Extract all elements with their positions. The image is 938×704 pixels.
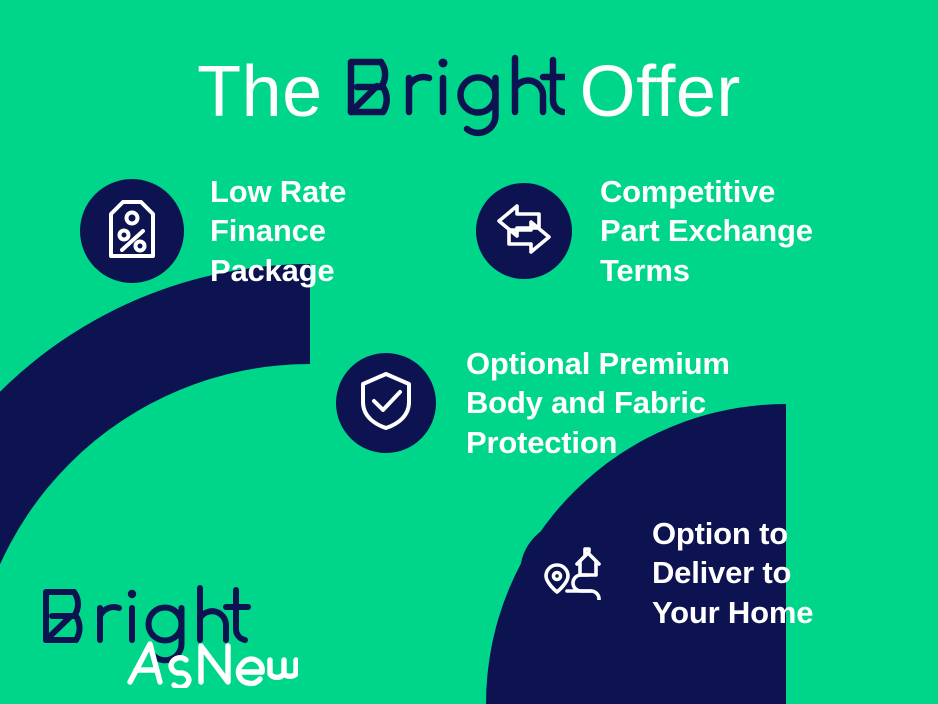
feature-item-body-fabric-protection: Optional Premium Body and Fabric Protect… bbox=[336, 344, 796, 462]
feature-label: Competitive Part Exchange Terms bbox=[600, 172, 868, 290]
shield-check-icon bbox=[357, 370, 415, 437]
bright-wordmark-icon bbox=[337, 46, 565, 142]
feature-icon-badge bbox=[476, 183, 572, 279]
feature-label-line: Option to bbox=[652, 514, 864, 553]
feature-label-line: Finance bbox=[210, 211, 410, 250]
feature-item-part-exchange: Competitive Part Exchange Terms bbox=[476, 172, 868, 290]
feature-label-line: Your Home bbox=[652, 593, 864, 632]
feature-label: Low Rate Finance Package bbox=[210, 172, 410, 290]
promo-banner: The bbox=[0, 0, 938, 704]
exchange-arrows-icon bbox=[495, 200, 553, 263]
home-delivery-pin-icon bbox=[541, 542, 603, 605]
feature-label-line: Terms bbox=[600, 251, 868, 290]
feature-item-home-delivery: Option to Deliver to Your Home bbox=[520, 514, 864, 632]
headline-after: Offer bbox=[580, 52, 741, 132]
price-tag-percent-icon bbox=[103, 198, 161, 265]
feature-label-line: Low Rate bbox=[210, 172, 410, 211]
feature-label-line: Body and Fabric bbox=[466, 383, 796, 422]
headline-before: The bbox=[197, 52, 323, 132]
brightasnew-logo bbox=[38, 578, 298, 688]
feature-label-line: Deliver to bbox=[652, 553, 864, 592]
feature-label-line: Competitive bbox=[600, 172, 868, 211]
feature-icon-badge bbox=[520, 521, 624, 625]
feature-label-line: Optional Premium bbox=[466, 344, 796, 383]
feature-label: Optional Premium Body and Fabric Protect… bbox=[466, 344, 796, 462]
feature-item-low-rate-finance: Low Rate Finance Package bbox=[80, 172, 410, 290]
feature-icon-badge bbox=[336, 353, 436, 453]
feature-label-line: Part Exchange bbox=[600, 211, 868, 250]
feature-icon-badge bbox=[80, 179, 184, 283]
feature-label-line: Protection bbox=[466, 423, 796, 462]
logo-secondary-wordmark bbox=[130, 644, 296, 687]
feature-label: Option to Deliver to Your Home bbox=[652, 514, 864, 632]
feature-label-line: Package bbox=[210, 251, 410, 290]
page-title: The bbox=[0, 44, 938, 140]
